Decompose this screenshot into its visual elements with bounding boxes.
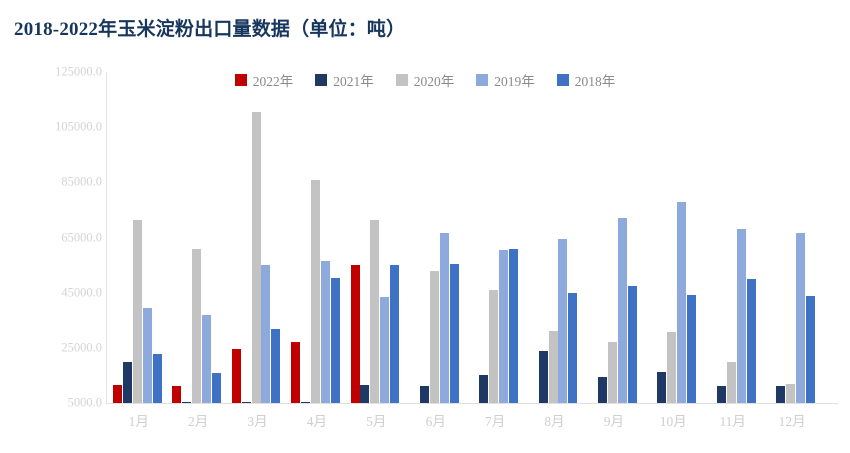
bar-group xyxy=(110,72,169,403)
y-axis-tick-label: 45000.0 xyxy=(6,285,102,300)
bar[interactable] xyxy=(143,308,152,403)
bar[interactable] xyxy=(628,286,637,403)
bar[interactable] xyxy=(153,354,162,403)
bar-group xyxy=(585,72,644,403)
x-axis-tick-label: 6月 xyxy=(426,410,446,430)
y-axis-tick-label: 5000.0 xyxy=(6,396,102,411)
bar[interactable] xyxy=(261,265,270,403)
x-axis-tick-label: 5月 xyxy=(366,410,386,430)
bar[interactable] xyxy=(737,229,746,403)
x-axis-tick-label: 11月 xyxy=(719,410,746,430)
bar[interactable] xyxy=(667,332,676,403)
bar[interactable] xyxy=(806,296,815,403)
y-axis-tick-label: 25000.0 xyxy=(6,340,102,355)
y-axis-ticks: 125000.0105000.085000.065000.045000.0250… xyxy=(0,0,102,453)
x-axis-tick-label: 1月 xyxy=(129,410,149,430)
x-axis-tick-label: 12月 xyxy=(779,410,806,430)
bar[interactable] xyxy=(479,375,488,403)
x-axis-tick-label: 4月 xyxy=(307,410,327,430)
bar[interactable] xyxy=(182,402,191,403)
x-axis-tick-label: 10月 xyxy=(660,410,687,430)
bar[interactable] xyxy=(420,386,429,403)
x-axis-tick-label: 2月 xyxy=(188,410,208,430)
bar[interactable] xyxy=(212,373,221,403)
bar[interactable] xyxy=(430,271,439,403)
bar[interactable] xyxy=(133,220,142,403)
bar[interactable] xyxy=(608,342,617,403)
bar[interactable] xyxy=(311,180,320,403)
bar[interactable] xyxy=(321,261,330,403)
y-axis-tick-label: 125000.0 xyxy=(6,65,102,80)
x-axis-line xyxy=(106,403,838,404)
bar-group xyxy=(288,72,347,403)
bar[interactable] xyxy=(123,362,132,403)
bar[interactable] xyxy=(360,385,369,403)
bar-group xyxy=(645,72,704,403)
bar[interactable] xyxy=(499,250,508,403)
bar[interactable] xyxy=(747,279,756,403)
bar-group xyxy=(348,72,407,403)
bar[interactable] xyxy=(351,265,360,403)
x-axis-tick-label: 8月 xyxy=(544,410,564,430)
bar[interactable] xyxy=(549,331,558,403)
bar[interactable] xyxy=(172,386,181,403)
y-axis-tick-label: 105000.0 xyxy=(6,120,102,135)
bar[interactable] xyxy=(687,295,696,403)
bar[interactable] xyxy=(558,239,567,403)
bar[interactable] xyxy=(390,265,399,403)
bar[interactable] xyxy=(301,402,310,403)
bar[interactable] xyxy=(192,249,201,403)
bar-group xyxy=(407,72,466,403)
bar[interactable] xyxy=(717,386,726,403)
bar[interactable] xyxy=(291,342,300,403)
bar[interactable] xyxy=(509,249,518,403)
bar[interactable] xyxy=(370,220,379,403)
bar-group xyxy=(763,72,822,403)
bar[interactable] xyxy=(331,278,340,404)
bar[interactable] xyxy=(786,384,795,403)
y-axis-tick-label: 85000.0 xyxy=(6,175,102,190)
bar[interactable] xyxy=(539,351,548,403)
y-axis-tick-label: 65000.0 xyxy=(6,230,102,245)
bar[interactable] xyxy=(232,349,241,403)
bar-group xyxy=(169,72,228,403)
bar[interactable] xyxy=(202,315,211,403)
bar[interactable] xyxy=(489,290,498,403)
x-axis-tick-label: 7月 xyxy=(485,410,505,430)
bar[interactable] xyxy=(677,202,686,403)
bar[interactable] xyxy=(657,372,666,403)
bar[interactable] xyxy=(113,385,122,403)
bar-group xyxy=(526,72,585,403)
chart-container: 2018-2022年玉米淀粉出口量数据（单位：吨） 2022年2021年2020… xyxy=(0,0,850,453)
bar[interactable] xyxy=(242,402,251,403)
bar[interactable] xyxy=(568,293,577,403)
bar[interactable] xyxy=(598,377,607,403)
bar[interactable] xyxy=(450,264,459,403)
bar[interactable] xyxy=(796,233,805,403)
bar-group xyxy=(466,72,525,403)
bar[interactable] xyxy=(380,297,389,403)
x-axis-tick-label: 3月 xyxy=(247,410,267,430)
x-axis-tick-label: 9月 xyxy=(604,410,624,430)
bar[interactable] xyxy=(618,218,627,403)
bar[interactable] xyxy=(776,386,785,403)
bar[interactable] xyxy=(271,329,280,403)
bar-group xyxy=(229,72,288,403)
bar[interactable] xyxy=(440,233,449,403)
bar[interactable] xyxy=(252,112,261,403)
bar-group xyxy=(704,72,763,403)
bar[interactable] xyxy=(727,362,736,403)
